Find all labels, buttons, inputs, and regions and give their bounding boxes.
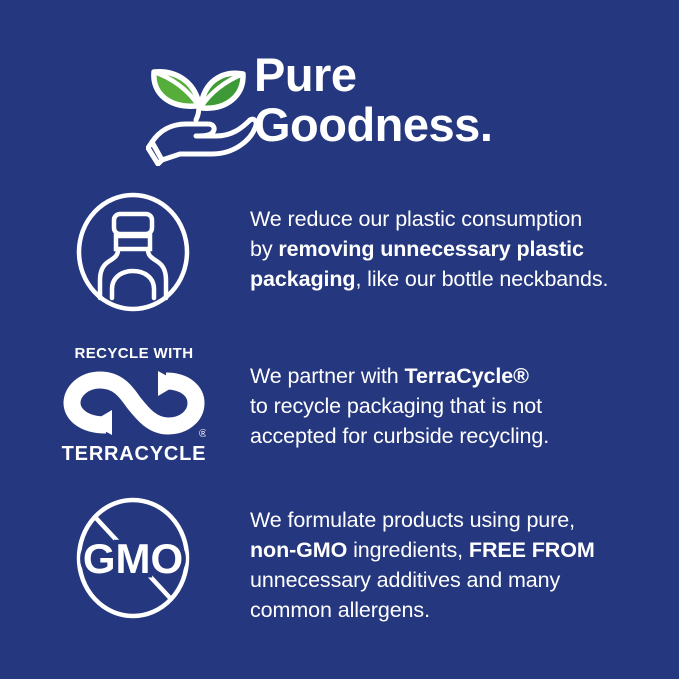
header: Pure Goodness.	[0, 24, 679, 154]
gmo-label: GMO	[83, 535, 183, 582]
feature-row-gmo: GMO GMO We formulate products using pure…	[0, 495, 679, 635]
copy-line: We reduce our plastic consumption	[250, 204, 670, 234]
copy-line: to recycle packaging that is not	[250, 391, 670, 421]
terracycle-logo-bottom-text: TERRACYCLE	[58, 443, 210, 466]
copy-line: We partner with TerraCycle®	[250, 361, 670, 391]
copy-line: by removing unnecessary plastic	[250, 234, 670, 264]
copy-line: accepted for curbside recycling.	[250, 421, 670, 451]
feature-text-plastic: We reduce our plastic consumptionby remo…	[250, 204, 670, 294]
terracycle-logo-top-text: RECYCLE WITH	[58, 345, 210, 362]
feature-row-terracycle: RECYCLE WITH ® TERRACYCLE We partner wit…	[0, 345, 679, 480]
headline-line-2: Goodness.	[254, 100, 674, 150]
pure-goodness-infographic: Pure Goodness. We reduce our plastic con…	[0, 0, 679, 679]
feature-row-plastic: We reduce our plastic consumptionby remo…	[0, 190, 679, 330]
feature-text-gmo: We formulate products using pure,non-GMO…	[250, 505, 670, 625]
page-title: Pure Goodness.	[254, 50, 674, 150]
copy-line: packaging, like our bottle neckbands.	[250, 264, 670, 294]
registered-mark: ®	[199, 428, 206, 439]
terracycle-logo: RECYCLE WITH ® TERRACYCLE	[58, 345, 210, 480]
headline-line-1: Pure	[254, 48, 357, 101]
no-gmo-icon: GMO GMO	[58, 495, 210, 630]
infinity-arrows-icon: ®	[62, 367, 206, 439]
feature-text-terracycle: We partner with TerraCycle®to recycle pa…	[250, 361, 670, 451]
copy-line: We formulate products using pure,	[250, 505, 670, 535]
copy-line: unnecessary additives and many	[250, 565, 670, 595]
copy-line: non-GMO ingredients, FREE FROM	[250, 535, 670, 565]
bottle-neckband-icon	[58, 190, 210, 325]
hand-holding-sprout-icon	[146, 56, 258, 166]
copy-line: common allergens.	[250, 595, 670, 625]
